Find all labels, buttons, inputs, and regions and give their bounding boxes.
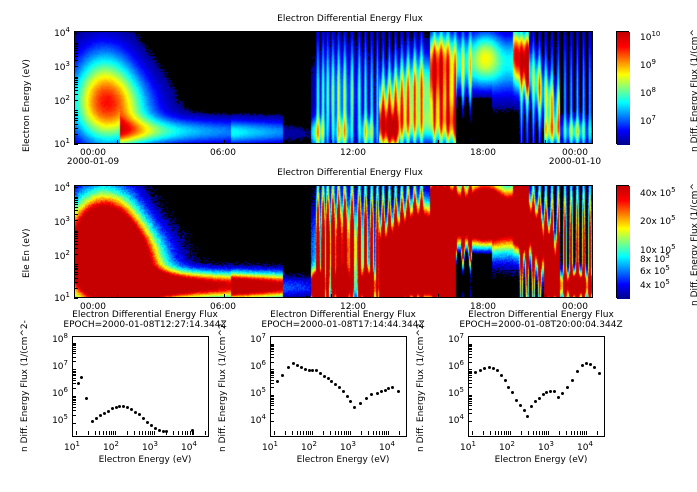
spectrum-left-ytick-8: 108 (32, 332, 68, 345)
axis-tick-mark (72, 375, 76, 376)
axis-tick-mark (74, 115, 78, 116)
axis-tick-mark (95, 431, 96, 435)
axis-tick-mark (510, 431, 511, 435)
axis-tick-mark (582, 431, 583, 435)
axis-tick-mark (574, 431, 575, 435)
axis-tick-mark (270, 377, 274, 378)
spectrum-mid-xtick-4: 104 (370, 440, 404, 453)
axis-tick-mark (270, 357, 274, 358)
axis-tick-mark (270, 409, 274, 410)
axis-tick-mark (495, 431, 496, 435)
axis-tick-mark (173, 431, 174, 435)
axis-tick-mark (270, 373, 274, 374)
axis-tick-mark (74, 110, 78, 111)
axis-tick-mark (72, 347, 76, 348)
data-point (474, 371, 477, 374)
axis-tick-mark (190, 431, 191, 435)
data-point (566, 386, 569, 389)
axis-tick-mark (468, 405, 472, 406)
axis-tick-mark (74, 200, 78, 201)
spectrogram-image-top (74, 31, 593, 144)
spectrum-title-right: Electron Differential Energy Flux (436, 310, 646, 320)
axis-tick-mark (270, 371, 274, 372)
axis-tick-mark (178, 431, 179, 435)
axis-tick-mark (74, 202, 78, 203)
axis-tick-mark (72, 357, 76, 358)
axis-tick-mark (566, 431, 567, 435)
x-date-right-top: 2000-01-10 (540, 157, 610, 167)
data-point (281, 374, 284, 377)
data-point (99, 414, 102, 417)
axis-tick-mark (468, 396, 472, 397)
data-point (292, 362, 295, 365)
axis-tick-mark (74, 134, 78, 135)
data-point (80, 376, 83, 379)
axis-tick-mark (74, 210, 78, 211)
axis-tick-mark (106, 431, 107, 435)
axis-tick-mark (468, 348, 472, 349)
axis-tick-mark (468, 409, 472, 410)
axis-tick-mark (72, 351, 76, 352)
axis-tick-mark (72, 345, 76, 346)
axis-tick-mark (74, 80, 78, 81)
colorbar-tick-mid-40: 40x 105 (640, 186, 676, 199)
axis-tick-mark (74, 112, 78, 113)
axis-tick-mark (74, 77, 78, 78)
axis-tick-mark (498, 431, 499, 435)
axis-tick-mark (72, 380, 76, 381)
axis-tick-mark (468, 377, 472, 378)
data-point (150, 424, 153, 427)
axis-tick-mark (72, 374, 76, 375)
axis-tick-mark (468, 421, 472, 422)
data-point (576, 370, 579, 373)
axis-tick-mark (506, 431, 507, 435)
axis-tick-mark (103, 431, 104, 435)
axis-tick-mark (300, 431, 301, 435)
data-point (589, 363, 592, 366)
axis-tick-mark (270, 344, 274, 345)
axis-tick-mark (438, 294, 439, 298)
axis-tick-mark (205, 431, 206, 435)
data-point (349, 400, 352, 403)
axis-tick-mark (270, 369, 274, 370)
axis-tick-mark (376, 431, 377, 435)
axis-tick-mark (182, 431, 183, 435)
axis-tick-mark (74, 282, 78, 283)
axis-tick-mark (72, 415, 76, 416)
axis-tick-mark (72, 371, 76, 372)
axis-tick-mark (274, 431, 275, 435)
data-point (162, 430, 165, 433)
spectrum-ylabel-middle: n Diff. Energy Flux (1/(cm^2- (218, 320, 228, 452)
axis-tick-mark (384, 431, 385, 435)
colorbar-tick-top-10: 1010 (640, 30, 660, 43)
axis-tick-mark (74, 82, 78, 83)
axis-tick-mark (468, 373, 472, 374)
data-point (598, 372, 601, 375)
data-point (330, 380, 333, 383)
axis-tick-mark (270, 413, 274, 414)
axis-tick-mark (270, 362, 274, 363)
spectrum-mid-xtick-3: 103 (331, 440, 365, 453)
spectrogram-image-middle (74, 185, 593, 298)
colorbar-tick-top-8: 108 (640, 86, 656, 99)
data-point (327, 377, 330, 380)
axis-tick-mark (74, 197, 78, 198)
axis-tick-mark (536, 431, 537, 435)
axis-tick-mark (548, 431, 549, 435)
data-point (545, 391, 548, 394)
axis-tick-mark (270, 354, 274, 355)
y-tick-mid-3: 103 (36, 215, 70, 228)
axis-tick-mark (338, 431, 339, 435)
data-point (370, 393, 373, 396)
data-point (483, 367, 486, 370)
axis-tick-mark (270, 403, 274, 404)
data-point (304, 368, 307, 371)
colorbar-label-top: n Diff. Energy Flux (1/(cm^ (690, 29, 697, 152)
axis-tick-mark (74, 48, 78, 49)
data-point (138, 413, 141, 416)
data-point (376, 392, 379, 395)
axis-tick-mark (72, 372, 76, 373)
spectrum-right-xlabel: Electron Energy (eV) (476, 455, 606, 465)
axis-tick-mark (74, 238, 78, 239)
spectrum-right-ytick-7: 107 (428, 332, 464, 345)
axis-tick-mark (185, 431, 186, 435)
spectrum-plot-left (72, 336, 209, 437)
axis-tick-mark (350, 431, 351, 435)
axis-tick-mark (74, 236, 78, 237)
axis-tick-mark (72, 402, 76, 403)
data-point (95, 417, 98, 420)
axis-tick-mark (312, 431, 313, 435)
data-point (85, 397, 88, 400)
axis-tick-mark (74, 124, 78, 125)
axis-tick-mark (72, 423, 76, 424)
data-point (585, 362, 588, 365)
axis-tick-mark (270, 421, 274, 422)
axis-tick-mark (74, 60, 78, 61)
axis-tick-mark (74, 241, 78, 242)
axis-tick-mark (468, 344, 472, 345)
axis-tick-mark (346, 431, 347, 435)
axis-tick-mark (74, 128, 78, 129)
axis-tick-mark (72, 410, 76, 411)
colorbar-tick-top-9: 109 (640, 58, 656, 71)
axis-tick-mark (117, 294, 118, 298)
data-point (523, 409, 526, 412)
axis-tick-mark (308, 431, 309, 435)
axis-tick-mark (559, 431, 560, 435)
panel-title-middle: Electron Differential Energy Flux (150, 168, 550, 178)
axis-tick-mark (74, 220, 78, 221)
x-tick-top-2: 12:00 (318, 148, 388, 158)
axis-tick-mark (142, 431, 143, 435)
axis-tick-mark (139, 431, 140, 435)
axis-tick-mark (74, 232, 78, 233)
axis-tick-mark (270, 372, 274, 373)
axis-tick-mark (270, 405, 274, 406)
axis-tick-mark (468, 346, 472, 347)
axis-tick-mark (468, 372, 472, 373)
axis-tick-mark (468, 387, 472, 388)
data-point (593, 366, 596, 369)
axis-tick-mark (74, 94, 78, 95)
data-point (359, 402, 362, 405)
spectrum-plot-right (468, 336, 605, 437)
colorbar-middle (616, 185, 629, 298)
axis-tick-mark (72, 343, 76, 344)
data-point (515, 399, 518, 402)
data-point (315, 369, 318, 372)
spectrum-left-xtick-1: 101 (55, 440, 89, 453)
axis-tick-mark (74, 53, 78, 54)
data-point (500, 374, 503, 377)
axis-tick-mark (468, 371, 472, 372)
axis-tick-mark (270, 399, 274, 400)
axis-tick-mark (72, 397, 76, 398)
axis-tick-mark (323, 431, 324, 435)
data-point (338, 386, 341, 389)
axis-tick-mark (72, 396, 76, 397)
spectrum-ylabel-left: n Diff. Energy Flux (1/(cm^2- (20, 320, 30, 452)
data-point (387, 387, 390, 390)
axis-tick-mark (270, 349, 274, 350)
data-point (342, 390, 345, 393)
spectrum-right-xtick-3: 103 (529, 440, 563, 453)
axis-tick-mark (270, 380, 274, 381)
axis-tick-mark (504, 431, 505, 435)
data-point (311, 369, 314, 372)
axis-tick-mark (74, 278, 78, 279)
spectrum-ylabel-right: n Diff. Energy Flux (1/(cm^2- (416, 320, 426, 452)
axis-tick-mark (74, 33, 78, 34)
data-point (538, 397, 541, 400)
axis-tick-mark (545, 140, 546, 144)
axis-tick-mark (468, 351, 472, 352)
axis-tick-mark (74, 43, 78, 44)
axis-tick-mark (270, 375, 274, 376)
axis-tick-mark (361, 431, 362, 435)
axis-tick-mark (74, 204, 78, 205)
axis-tick-mark (330, 431, 331, 435)
colorbar-tick-top-7: 107 (640, 114, 656, 127)
axis-tick-mark (74, 274, 78, 275)
axis-tick-mark (483, 431, 484, 435)
data-point (581, 364, 584, 367)
data-point (353, 406, 356, 409)
axis-tick-mark (331, 294, 332, 298)
data-point (507, 386, 510, 389)
axis-tick-mark (468, 375, 472, 376)
data-point (391, 386, 394, 389)
axis-tick-mark (74, 187, 78, 188)
data-point (300, 366, 303, 369)
axis-tick-mark (539, 431, 540, 435)
axis-tick-mark (468, 369, 472, 370)
axis-tick-mark (580, 431, 581, 435)
data-point (530, 405, 533, 408)
axis-tick-mark (74, 66, 78, 67)
data-point (553, 390, 556, 393)
axis-tick-mark (74, 254, 78, 255)
axis-tick-mark (382, 431, 383, 435)
data-point (308, 369, 311, 372)
data-point (334, 383, 337, 386)
axis-tick-mark (490, 431, 491, 435)
axis-tick-mark (270, 345, 274, 346)
axis-tick-mark (533, 431, 534, 435)
axis-tick-mark (127, 431, 128, 435)
data-point (126, 406, 129, 409)
axis-tick-mark (297, 431, 298, 435)
data-point (479, 369, 482, 372)
axis-tick-mark (306, 431, 307, 435)
axis-tick-mark (468, 401, 472, 402)
spectrum-mid-xtick-1: 101 (253, 440, 287, 453)
axis-tick-mark (270, 348, 274, 349)
axis-tick-mark (72, 349, 76, 350)
data-point (77, 382, 80, 385)
axis-tick-mark (438, 140, 439, 144)
axis-tick-mark (224, 140, 225, 144)
axis-tick-mark (76, 431, 77, 435)
axis-tick-mark (74, 50, 78, 51)
axis-tick-mark (545, 294, 546, 298)
colorbar-top (616, 31, 629, 144)
axis-tick-mark (117, 140, 118, 144)
axis-tick-mark (472, 431, 473, 435)
axis-tick-mark (145, 431, 146, 435)
axis-tick-mark (134, 431, 135, 435)
spectrum-mid-ytick-6: 106 (230, 359, 266, 372)
axis-tick-mark (74, 46, 78, 47)
data-point (397, 390, 400, 393)
spectrum-left-xlabel: Electron Energy (eV) (80, 455, 210, 465)
data-point (496, 369, 499, 372)
data-point (111, 407, 114, 410)
axis-tick-mark (74, 44, 78, 45)
data-point (365, 397, 368, 400)
colorbar-label-middle: n Diff. Energy Flux (1/(cm^ (690, 183, 697, 306)
y-axis-label-middle: Ele En (eV) (22, 228, 32, 278)
data-point (276, 380, 279, 383)
data-point (323, 375, 326, 378)
axis-tick-mark (72, 353, 76, 354)
spectrum-right-xtick-2: 102 (490, 440, 524, 453)
axis-tick-mark (109, 431, 110, 435)
axis-tick-mark (74, 288, 78, 289)
data-point (107, 410, 110, 413)
axis-tick-mark (344, 431, 345, 435)
data-point (319, 372, 322, 375)
spectrum-left-xtick-2: 102 (94, 440, 128, 453)
axis-tick-mark (74, 114, 78, 115)
data-point (526, 415, 529, 418)
axis-tick-mark (154, 431, 155, 435)
data-point (519, 404, 522, 407)
x-date-left-top: 2000-01-09 (58, 157, 128, 167)
axis-tick-mark (88, 431, 89, 435)
axis-tick-mark (542, 431, 543, 435)
axis-tick-mark (72, 404, 76, 405)
axis-tick-mark (468, 399, 472, 400)
axis-tick-mark (577, 431, 578, 435)
axis-tick-mark (72, 400, 76, 401)
spectrum-right-xtick-4: 104 (568, 440, 602, 453)
data-point (380, 390, 383, 393)
axis-tick-mark (270, 383, 274, 384)
axis-tick-mark (72, 388, 76, 389)
y-tick-mid-2: 102 (36, 249, 70, 262)
spectrum-subtitle-right: EPOCH=2000-01-08T20:00:04.344Z (436, 320, 646, 330)
spectrum-mid-xtick-2: 102 (292, 440, 326, 453)
axis-tick-mark (597, 431, 598, 435)
axis-tick-mark (74, 120, 78, 121)
data-point (534, 400, 537, 403)
axis-tick-mark (292, 431, 293, 435)
axis-tick-mark (285, 431, 286, 435)
axis-tick-mark (468, 345, 472, 346)
axis-tick-mark (270, 387, 274, 388)
axis-tick-mark (166, 431, 167, 435)
data-point (492, 367, 495, 370)
axis-tick-mark (74, 84, 78, 85)
axis-tick-mark (468, 349, 472, 350)
axis-tick-mark (72, 378, 76, 379)
axis-tick-mark (72, 344, 76, 345)
data-point (91, 420, 94, 423)
axis-tick-mark (468, 383, 472, 384)
axis-tick-mark (544, 431, 545, 435)
axis-tick-mark (468, 403, 472, 404)
axis-tick-mark (74, 269, 78, 270)
spectrum-right-xtick-1: 101 (451, 440, 485, 453)
axis-tick-mark (72, 369, 76, 370)
axis-tick-mark (468, 413, 472, 414)
data-point (115, 406, 118, 409)
x-tick-top-3: 18:00 (448, 148, 518, 158)
axis-tick-mark (99, 431, 100, 435)
y-axis-label-top: Electron Energy (eV) (22, 59, 32, 152)
axis-tick-mark (379, 431, 380, 435)
colorbar-tick-mid-20: 20x 105 (640, 214, 676, 227)
spectrum-left-xtick-3: 103 (133, 440, 167, 453)
axis-tick-mark (74, 56, 78, 57)
data-point (504, 379, 507, 382)
spectrum-left-ytick-6: 106 (32, 386, 68, 399)
axis-tick-mark (74, 87, 78, 88)
axis-tick-mark (335, 431, 336, 435)
axis-tick-mark (74, 214, 78, 215)
axis-tick-mark (150, 431, 151, 435)
axis-tick-mark (74, 248, 78, 249)
data-point (154, 427, 157, 430)
data-point (561, 392, 564, 395)
data-point (557, 396, 560, 399)
axis-tick-mark (399, 431, 400, 435)
data-point (511, 391, 514, 394)
axis-tick-mark (74, 198, 78, 199)
data-point (571, 379, 574, 382)
spectrum-left-xtick-4: 104 (172, 440, 206, 453)
axis-tick-mark (368, 431, 369, 435)
axis-tick-mark (468, 357, 472, 358)
axis-tick-mark (74, 231, 78, 232)
spectrum-right-ytick-5: 105 (428, 386, 464, 399)
